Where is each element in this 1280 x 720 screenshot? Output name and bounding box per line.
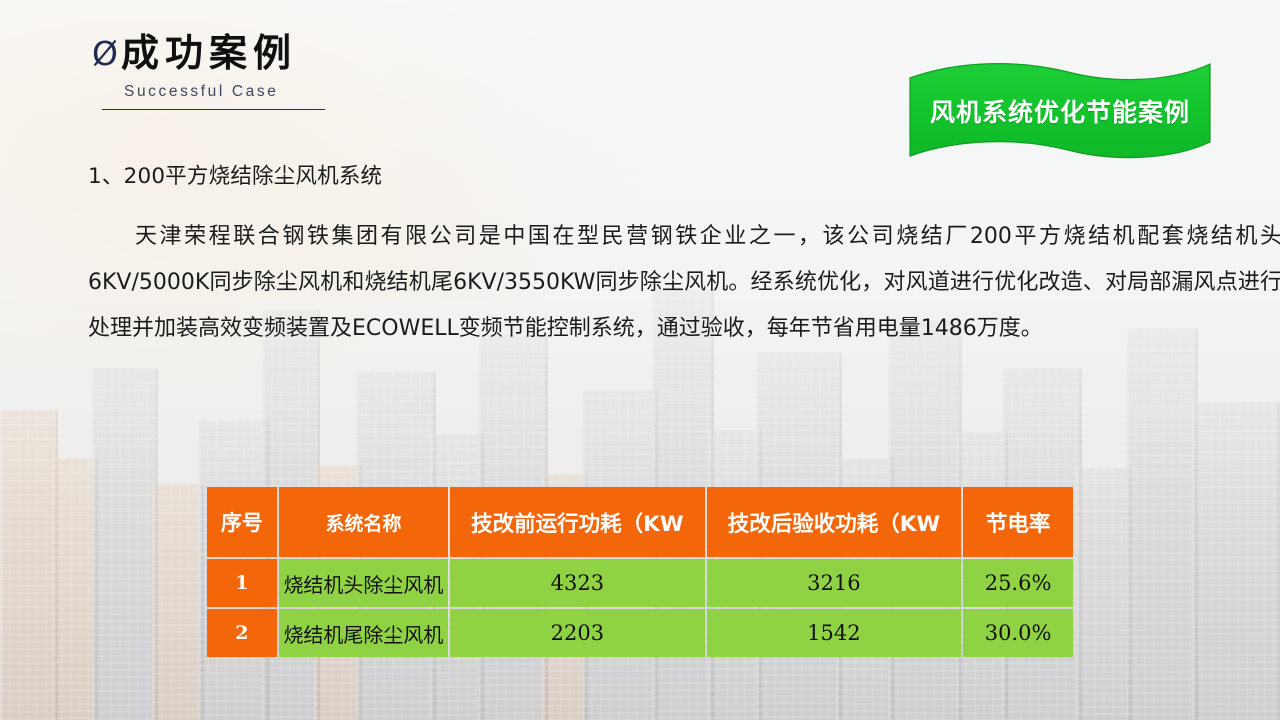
results-table: 序号 系统名称 技改前运行功耗（KW 技改后验收功耗（KW 节电率 1 烧结机头… bbox=[205, 485, 1075, 659]
cell-saving-rate: 30.0% bbox=[963, 609, 1073, 657]
body-paragraph: 天津荣程联合钢铁集团有限公司是中国在型民营钢铁企业之一，该公司烧结厂200平方烧… bbox=[88, 214, 1280, 352]
slashed-circle-icon: Ø bbox=[92, 37, 118, 70]
column-header-seq: 序号 bbox=[207, 487, 277, 557]
table-header-row: 序号 系统名称 技改前运行功耗（KW 技改后验收功耗（KW 节电率 bbox=[207, 487, 1073, 557]
table-body: 1 烧结机头除尘风机 4323 3216 25.6% 2 烧结机尾除尘风机 22… bbox=[207, 559, 1073, 657]
section-heading: 1、200平方烧结除尘风机系统 bbox=[88, 166, 1280, 188]
cell-name: 烧结机头除尘风机 bbox=[279, 559, 448, 607]
slide-canvas: Ø 成功案例 Successful Case 风机系统优化节能案例 1、200平… bbox=[0, 0, 1280, 720]
column-header-pre-power: 技改前运行功耗（KW bbox=[450, 487, 705, 557]
column-header-saving-rate: 节电率 bbox=[963, 487, 1073, 557]
page-subtitle: Successful Case bbox=[124, 83, 422, 101]
table-row: 2 烧结机尾除尘风机 2203 1542 30.0% bbox=[207, 609, 1073, 657]
column-header-name: 系统名称 bbox=[279, 487, 448, 557]
column-header-post-power: 技改后验收功耗（KW bbox=[707, 487, 962, 557]
page-title-block: Ø 成功案例 Successful Case bbox=[92, 34, 422, 110]
table-header: 序号 系统名称 技改前运行功耗（KW 技改后验收功耗（KW 节电率 bbox=[207, 487, 1073, 557]
cell-name: 烧结机尾除尘风机 bbox=[279, 609, 448, 657]
ribbon-label: 风机系统优化节能案例 bbox=[900, 56, 1220, 162]
cell-post-power: 3216 bbox=[707, 559, 962, 607]
cell-post-power: 1542 bbox=[707, 609, 962, 657]
table-row: 1 烧结机头除尘风机 4323 3216 25.6% bbox=[207, 559, 1073, 607]
body-content: 1、200平方烧结除尘风机系统 天津荣程联合钢铁集团有限公司是中国在型民营钢铁企… bbox=[88, 166, 1280, 352]
page-title: 成功案例 bbox=[121, 34, 297, 74]
cell-seq: 1 bbox=[207, 559, 277, 607]
ribbon-banner: 风机系统优化节能案例 bbox=[900, 56, 1220, 162]
cell-seq: 2 bbox=[207, 609, 277, 657]
cell-pre-power: 4323 bbox=[450, 559, 705, 607]
cell-saving-rate: 25.6% bbox=[963, 559, 1073, 607]
cell-pre-power: 2203 bbox=[450, 609, 705, 657]
title-divider bbox=[102, 109, 325, 110]
